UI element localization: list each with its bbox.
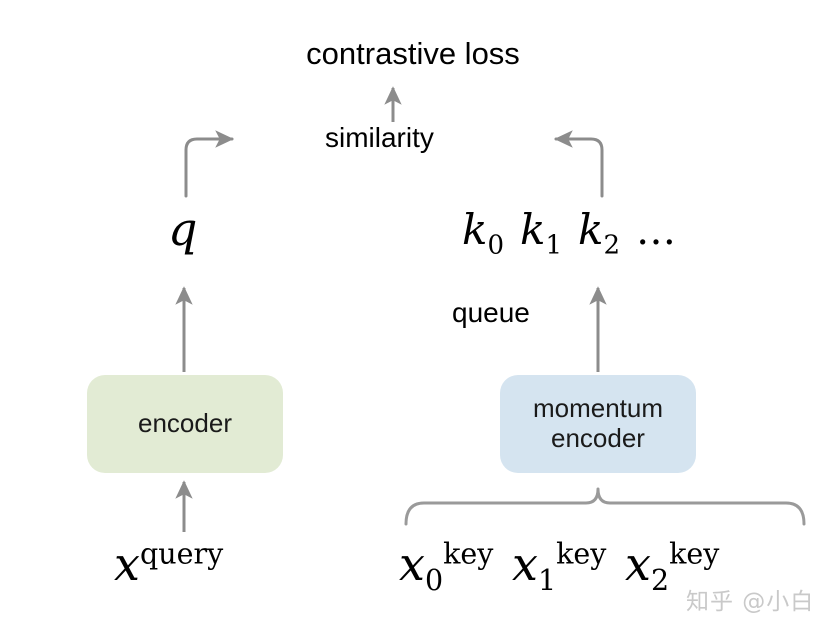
momentum-encoder-box[interactable]: momentumencoder: [500, 375, 696, 473]
key-embedding-0-base: k: [462, 205, 487, 254]
key-embeddings-ellipsis: …: [636, 208, 677, 254]
key-embedding-1-sub: 1: [545, 230, 562, 260]
x-key-0-symbol: x0key: [399, 541, 493, 587]
key-embedding-2-sub: 2: [603, 230, 620, 260]
x-key-0-sup: key: [443, 538, 493, 571]
x-key-1-symbol: x1key: [512, 541, 606, 587]
x-key-0-sub: 0: [425, 564, 443, 597]
x-key-2-sup: key: [669, 538, 719, 571]
contrastive-loss-label: contrastive loss: [0, 38, 826, 69]
query-embedding-symbol: q: [168, 206, 197, 252]
key-inputs-brace: [406, 489, 804, 524]
x-key-0-base: x: [399, 537, 425, 591]
encoder-box-label: encoder: [138, 409, 232, 439]
queue-label: queue: [452, 299, 530, 327]
x-key-2-symbol: x2key: [625, 541, 719, 587]
arrow-q-to-similarity: [186, 139, 232, 196]
key-embedding-0-sub: 0: [487, 230, 504, 260]
similarity-label: similarity: [325, 124, 434, 152]
key-embeddings-row: k0k1k2…: [462, 209, 677, 251]
encoder-box[interactable]: encoder: [87, 375, 283, 473]
x-key-2-base: x: [625, 537, 651, 591]
key-embedding-1: k1: [520, 205, 562, 254]
key-embedding-2-base: k: [578, 205, 603, 254]
x-key-2-sub: 2: [651, 564, 669, 597]
x-query-symbol: xquery: [114, 541, 223, 587]
momentum-encoder-box-label: momentumencoder: [533, 394, 663, 454]
x-query-base: x: [114, 537, 140, 591]
x-query-sup: query: [140, 538, 223, 571]
x-key-1-base: x: [512, 537, 538, 591]
x-key-1-sup: key: [556, 538, 606, 571]
momentum-encoder-label-line2: encoder: [551, 423, 645, 453]
key-embedding-0: k0: [462, 205, 504, 254]
momentum-encoder-label-line1: momentum: [533, 393, 663, 423]
key-embedding-1-base: k: [520, 205, 545, 254]
arrow-keys-to-similarity: [556, 139, 602, 196]
moco-diagram: contrastive loss similarity q k0k1k2… qu…: [0, 0, 826, 634]
key-embedding-2: k2: [578, 205, 620, 254]
x-key-1-sub: 1: [538, 564, 556, 597]
